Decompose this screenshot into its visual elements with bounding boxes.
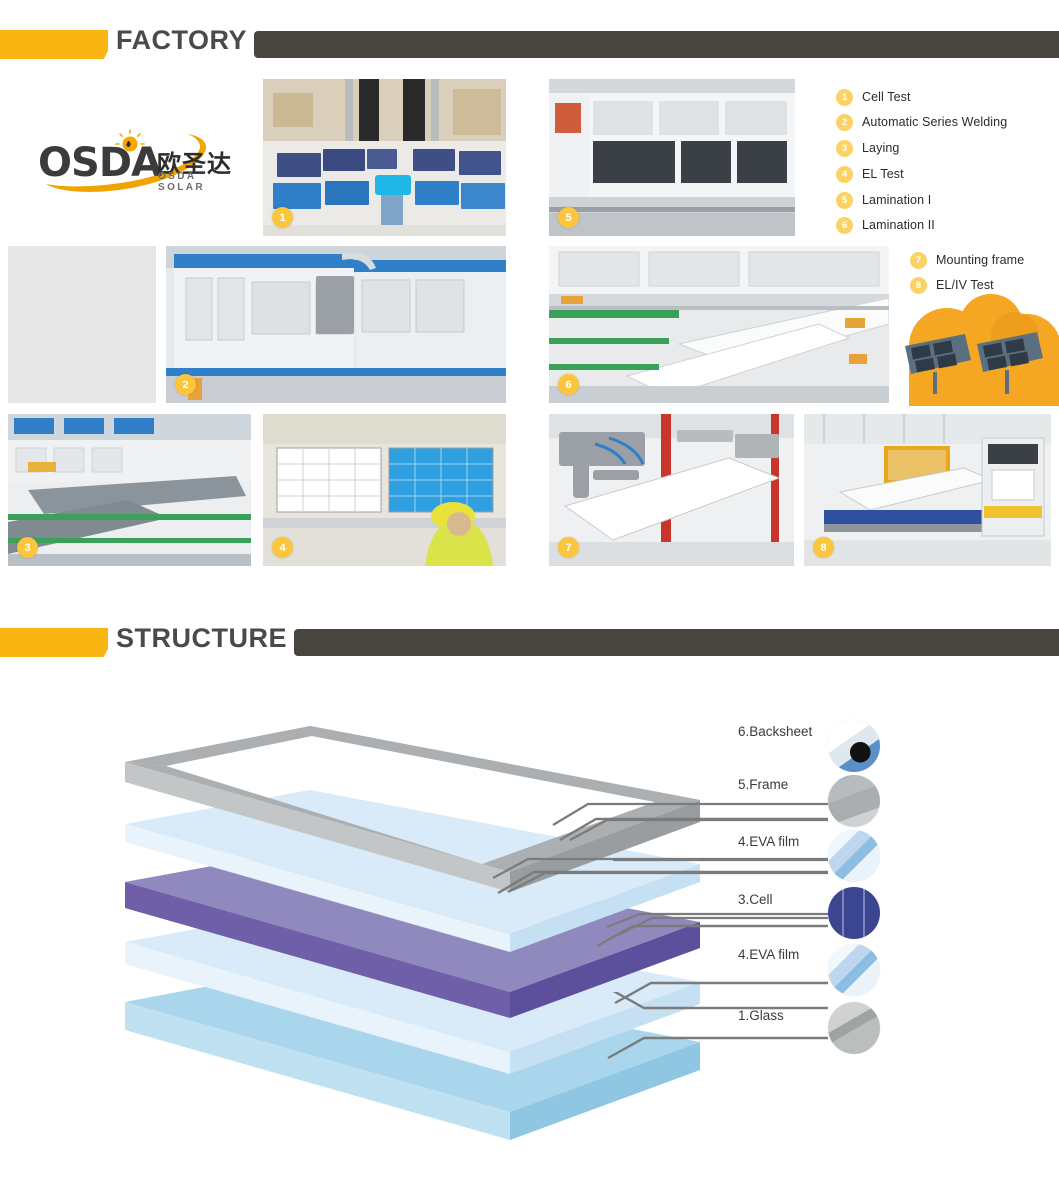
- photo-content-el-iv-test: [804, 414, 1051, 566]
- photo-badge: 2: [175, 374, 196, 395]
- photo-content-lamination-1: [549, 79, 795, 236]
- photo-badge: 6: [558, 374, 579, 395]
- legend-item-7[interactable]: 7 Mounting frame: [910, 251, 1024, 269]
- legend-item-6[interactable]: 6 Lamination II: [836, 216, 935, 234]
- legend-item-4[interactable]: 4 EL Test: [836, 165, 904, 183]
- callout-leader-glass: [0, 992, 1059, 1194]
- legend-number: 3: [836, 140, 853, 157]
- legend-number: 7: [910, 252, 927, 269]
- layer-label-glass: 1.Glass: [738, 1008, 784, 1023]
- legend-number: 6: [836, 217, 853, 234]
- layer-label-eva-bottom: 4.EVA film: [738, 947, 799, 962]
- legend-number: 1: [836, 89, 853, 106]
- solar-panel-illustration: [895, 288, 1059, 406]
- thumbnail-backsheet[interactable]: [828, 720, 880, 772]
- structure-section-header: STRUCTURE: [0, 628, 1059, 668]
- factory-photo-el-iv-test[interactable]: 8: [804, 414, 1051, 566]
- photo-content-cell-test: [263, 79, 506, 236]
- thumbnail-cell[interactable]: [828, 887, 880, 939]
- lamination-machine-graphic: [549, 79, 795, 236]
- structure-diagram: 6.Backsheet 5.Frame 4.EVA film 3.Cell 4.…: [0, 672, 1059, 1192]
- thumbnail-eva-film-bottom[interactable]: [828, 944, 880, 996]
- legend-label: Lamination I: [862, 193, 931, 207]
- legend-item-1[interactable]: 1 Cell Test: [836, 88, 911, 106]
- leader-glass-line: [606, 992, 828, 1014]
- solar-panel-decoration-graphic: [895, 288, 1059, 406]
- photo-content-lamination-2: [549, 246, 889, 403]
- stringer-machine-graphic: [166, 246, 506, 403]
- legend-number: 2: [836, 114, 853, 131]
- legend-item-3[interactable]: 3 Laying: [836, 139, 899, 157]
- legend-label: Automatic Series Welding: [862, 115, 1007, 129]
- legend-label: Cell Test: [862, 90, 911, 104]
- factory-header-accent-bar: [0, 30, 108, 59]
- laying-line-graphic: [8, 414, 251, 566]
- photo-badge: 5: [558, 207, 579, 228]
- leader-frame: [498, 872, 828, 893]
- factory-photo-el-test[interactable]: 4: [263, 414, 506, 566]
- layer-label-backsheet: 6.Backsheet: [738, 724, 812, 739]
- factory-photo-placeholder[interactable]: [8, 246, 156, 403]
- factory-photo-mounting-frame[interactable]: 7: [549, 414, 794, 566]
- layer-label-eva-top: 4.EVA film: [738, 834, 799, 849]
- el-test-operator-graphic: [263, 414, 506, 566]
- factory-photo-cell-test[interactable]: 1: [263, 79, 506, 236]
- structure-section-title: STRUCTURE: [116, 623, 287, 654]
- legend-label: Lamination II: [862, 218, 935, 232]
- factory-photo-lamination-1[interactable]: 5: [549, 79, 795, 236]
- photo-badge: 1: [272, 207, 293, 228]
- logo-subtitle: OSDA SOLAR: [158, 171, 248, 193]
- layer-label-cell: 3.Cell: [738, 892, 773, 907]
- photo-content-series-welding: [166, 246, 506, 403]
- photo-badge: 8: [813, 537, 834, 558]
- el-iv-test-station-graphic: [804, 414, 1051, 566]
- cell-sorting-robot-graphic: [263, 79, 506, 236]
- brochure-page: FACTORY OSDA 欧圣达 OSDA SOLAR: [0, 0, 1059, 1194]
- thumbnail-frame[interactable]: [828, 775, 880, 827]
- factory-section-title: FACTORY: [116, 25, 247, 56]
- factory-photo-series-welding[interactable]: 2: [166, 246, 506, 403]
- lamination-conveyor-graphic: [549, 246, 889, 403]
- factory-process-legend: 1 Cell Test 2 Automatic Series Welding 3…: [836, 88, 1051, 238]
- photo-content-el-test: [263, 414, 506, 566]
- structure-header-accent-bar: [0, 628, 108, 657]
- photo-content-mounting-frame: [549, 414, 794, 566]
- legend-item-2[interactable]: 2 Automatic Series Welding: [836, 113, 1007, 131]
- structure-header-dark-bar: [294, 629, 1059, 656]
- legend-label: Laying: [862, 141, 899, 155]
- layer-label-frame: 5.Frame: [738, 777, 788, 792]
- photo-content-placeholder: [8, 246, 156, 403]
- thumbnail-eva-film-top[interactable]: [828, 830, 880, 882]
- legend-label: Mounting frame: [936, 253, 1024, 267]
- factory-photo-lamination-2[interactable]: 6: [549, 246, 889, 403]
- legend-label: EL Test: [862, 167, 904, 181]
- factory-header-dark-bar: [254, 31, 1059, 58]
- leader-eva-top: [597, 926, 828, 946]
- osda-solar-logo: OSDA 欧圣达 OSDA SOLAR: [38, 122, 248, 194]
- legend-number: 5: [836, 192, 853, 209]
- frame-assembly-robot-graphic: [549, 414, 794, 566]
- legend-item-5[interactable]: 5 Lamination I: [836, 191, 931, 209]
- photo-badge: 4: [272, 537, 293, 558]
- photo-content-laying: [8, 414, 251, 566]
- logo-wordmark: OSDA: [38, 140, 161, 186]
- thumbnail-glass[interactable]: [828, 1002, 880, 1054]
- photo-badge: 7: [558, 537, 579, 558]
- legend-number: 4: [836, 166, 853, 183]
- photo-badge: 3: [17, 537, 38, 558]
- factory-photo-laying[interactable]: 3: [8, 414, 251, 566]
- factory-section-header: FACTORY: [0, 30, 1059, 70]
